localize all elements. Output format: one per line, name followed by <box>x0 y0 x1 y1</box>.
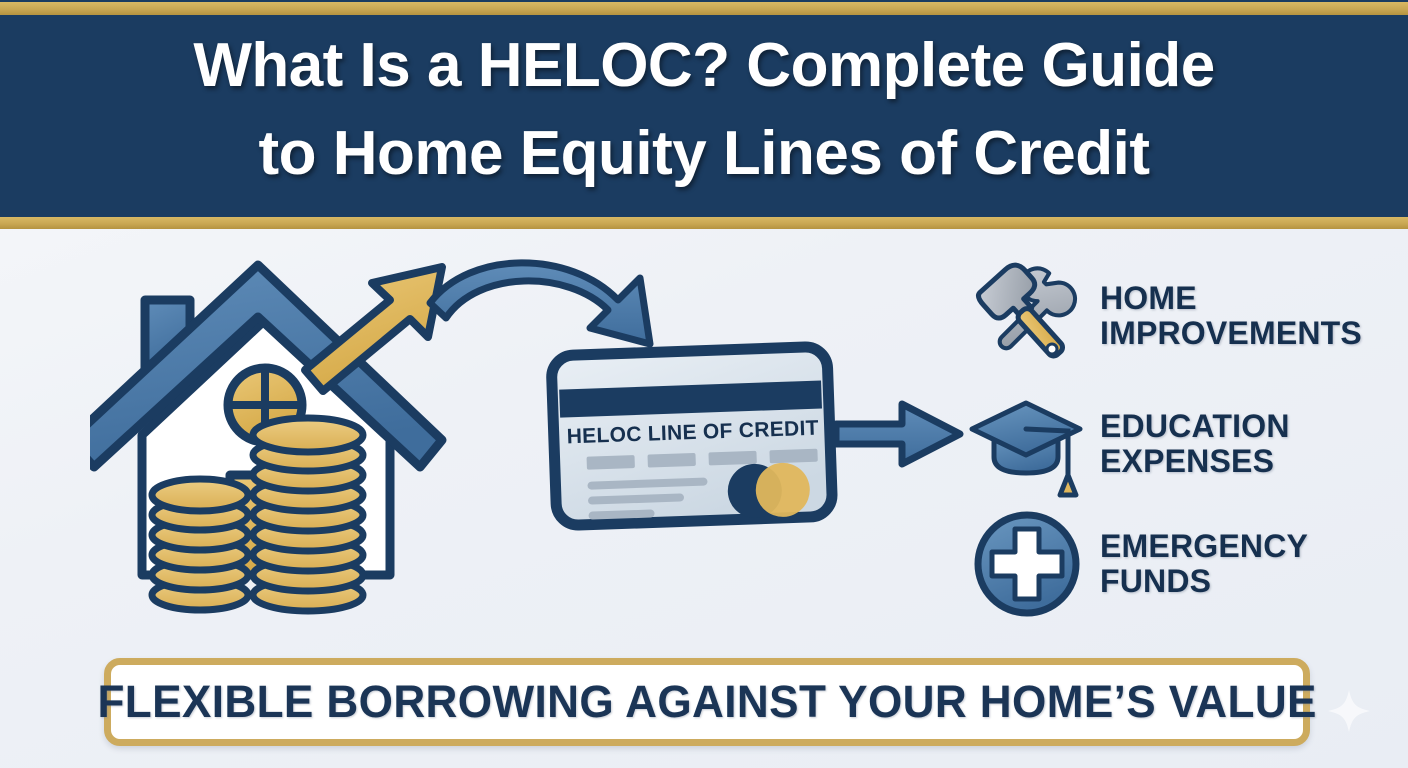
benefit-item-education-expenses[interactable]: EDUCATION EXPENSES <box>968 385 1290 503</box>
medical-cross-circle-icon <box>968 505 1086 623</box>
arrow-card-to-uses <box>828 398 968 470</box>
tagline-banner: FLEXIBLE BORROWING AGAINST YOUR HOME’S V… <box>104 658 1310 746</box>
wrench-hole <box>1047 344 1057 354</box>
wrench-hammer-icon <box>968 257 1086 375</box>
coin-stack-tall <box>253 418 363 611</box>
header-rule-bottom <box>0 217 1408 229</box>
benefit-item-home-improvements[interactable]: HOME IMPROVEMENTS <box>968 257 1362 375</box>
benefit-item-emergency-funds[interactable]: EMERGENCY FUNDS <box>968 505 1308 623</box>
page-title-line-2: to Home Equity Lines of Credit <box>0 110 1408 198</box>
header-band: What Is a HELOC? Complete Guide to Home … <box>0 0 1408 229</box>
cap-tassel <box>1060 475 1076 495</box>
four-point-star-sparkle <box>1326 688 1372 734</box>
graduation-cap-icon <box>968 385 1086 503</box>
benefit-label-emergency-funds: EMERGENCY FUNDS <box>1100 529 1308 599</box>
heloc-credit-card: HELOC LINE OF CREDIT <box>545 340 841 540</box>
page-title: What Is a HELOC? Complete Guide to Home … <box>0 22 1408 198</box>
infographic-canvas: What Is a HELOC? Complete Guide to Home … <box>0 0 1408 768</box>
coin-stack-short <box>152 479 248 610</box>
benefit-label-home-improvements: HOME IMPROVEMENTS <box>1100 281 1362 351</box>
benefit-label-education-expenses: EDUCATION EXPENSES <box>1100 409 1290 479</box>
page-title-line-1: What Is a HELOC? Complete Guide <box>0 22 1408 110</box>
header-rule-top <box>0 2 1408 15</box>
tagline-text: FLEXIBLE BORROWING AGAINST YOUR HOME’S V… <box>97 676 1316 728</box>
